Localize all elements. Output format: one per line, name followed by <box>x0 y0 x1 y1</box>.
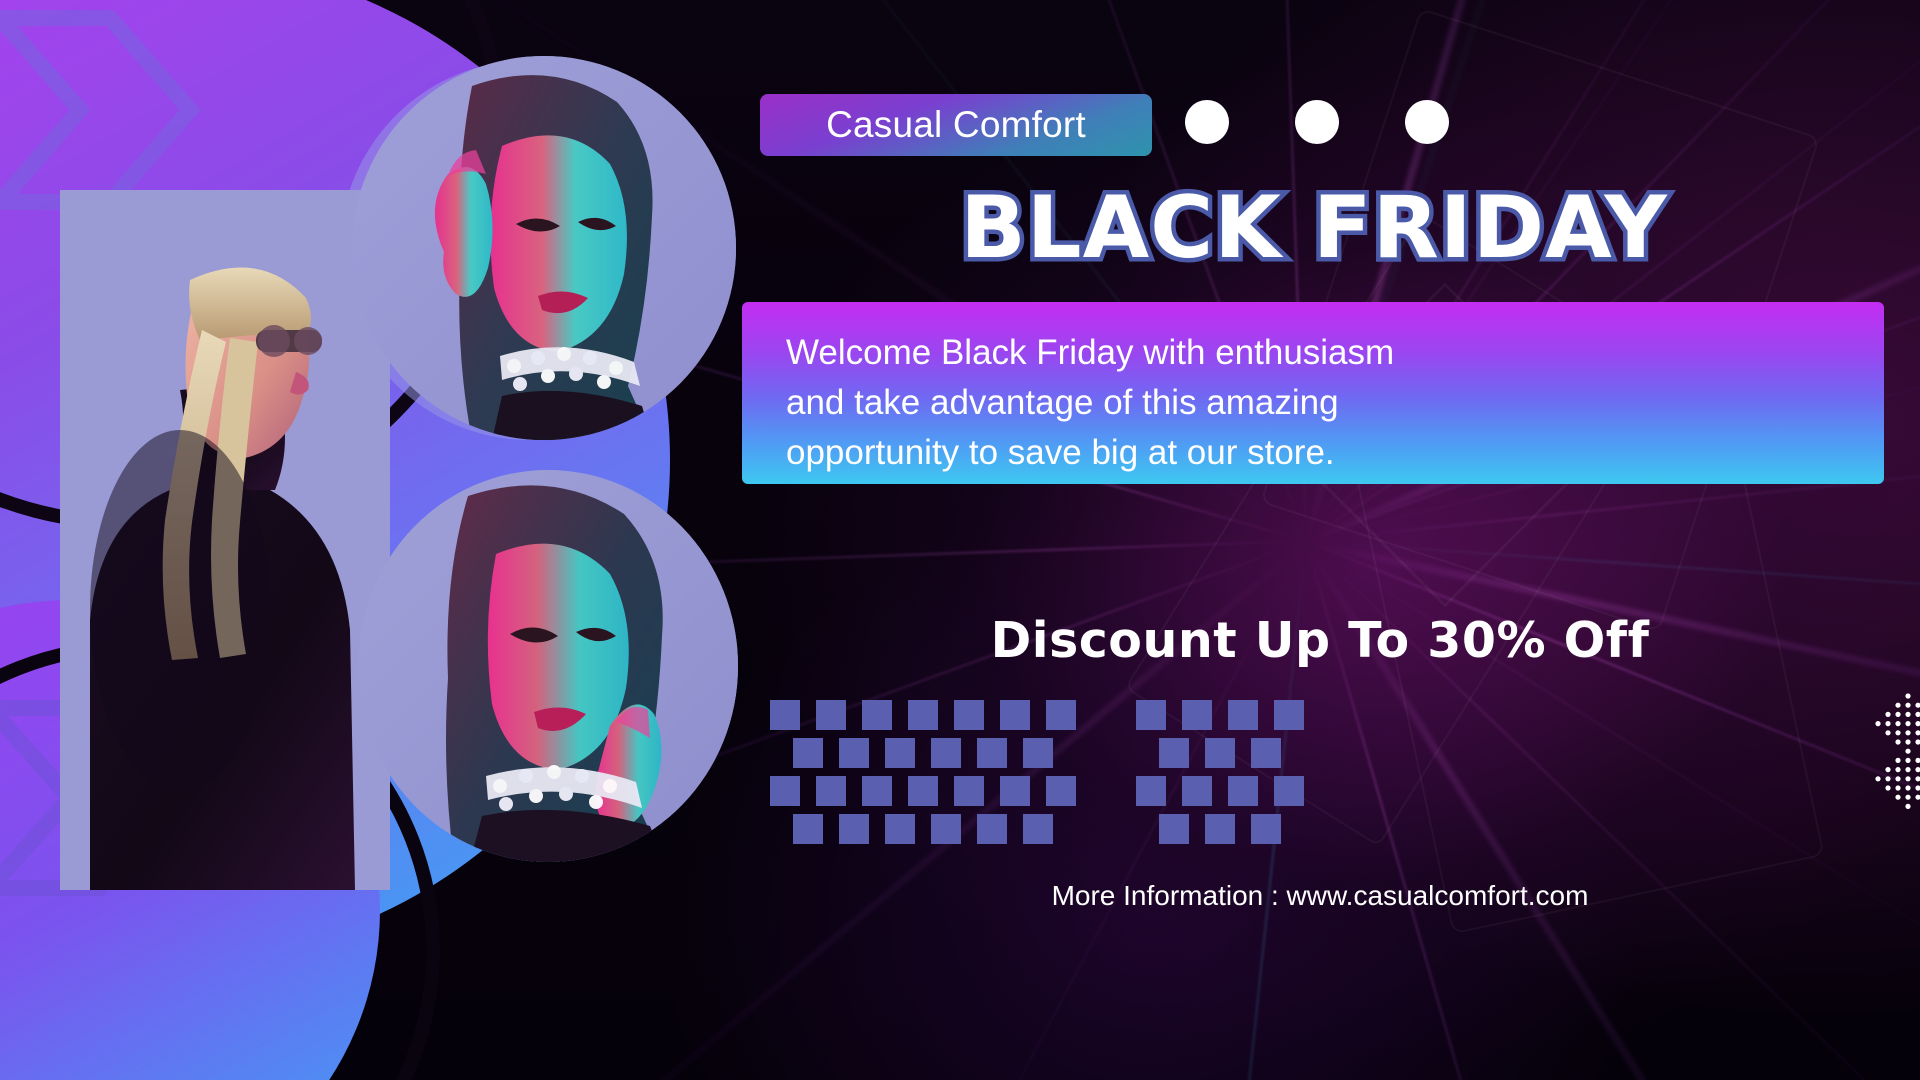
checker-square <box>839 738 869 768</box>
model-bottom-illustration <box>358 470 738 862</box>
checker-square <box>908 776 938 806</box>
checker-block-left <box>770 700 1092 852</box>
checker-block-right <box>1136 700 1320 852</box>
checker-square <box>1228 700 1258 730</box>
checker-square <box>1023 738 1053 768</box>
checker-square <box>1182 776 1212 806</box>
diamond-dots-icon <box>1858 690 1920 815</box>
model-left-illustration <box>60 190 390 890</box>
checker-square <box>1136 700 1166 730</box>
dot-2-icon <box>1295 100 1339 144</box>
promo-description-box: Welcome Black Friday with enthusiasm and… <box>742 302 1884 484</box>
checker-square <box>885 814 915 844</box>
checker-square <box>931 738 961 768</box>
checker-square <box>862 700 892 730</box>
content-column: Casual Comfort BLACK FRIDAY Welcome Blac… <box>760 0 1920 1080</box>
checker-square <box>977 814 1007 844</box>
checker-square <box>1205 738 1235 768</box>
promo-line: Welcome Black Friday with enthusiasm <box>786 328 1884 378</box>
checker-square <box>931 814 961 844</box>
checker-square <box>908 700 938 730</box>
checker-square <box>1251 814 1281 844</box>
checker-square <box>816 776 846 806</box>
checker-square <box>1046 776 1076 806</box>
checker-square <box>1205 814 1235 844</box>
discount-headline: Discount Up To 30% Off <box>760 612 1880 669</box>
dot-1-icon <box>1185 100 1229 144</box>
promo-line: and take advantage of this amazing <box>786 378 1884 428</box>
model-top-illustration <box>352 56 736 440</box>
checker-square <box>1228 776 1258 806</box>
model-photo-left <box>60 190 390 890</box>
checker-square <box>1023 814 1053 844</box>
checker-square <box>954 700 984 730</box>
checker-square <box>770 700 800 730</box>
diamond-dot-motif <box>1858 690 1920 815</box>
checker-square <box>770 776 800 806</box>
checker-square <box>1274 776 1304 806</box>
dot-decoration-group <box>1185 100 1449 144</box>
checker-square <box>1182 700 1212 730</box>
checker-square <box>1274 700 1304 730</box>
chevron-icon-top <box>0 10 220 220</box>
checker-square <box>1159 738 1189 768</box>
checker-square <box>1136 776 1166 806</box>
checker-square <box>862 776 892 806</box>
checker-square <box>1251 738 1281 768</box>
checker-square <box>1159 814 1189 844</box>
promo-line: opportunity to save big at our store. <box>786 428 1884 478</box>
brand-badge-label: Casual Comfort <box>826 104 1086 146</box>
checker-square <box>816 700 846 730</box>
footer-info: More Information : www.casualcomfort.com <box>760 880 1880 912</box>
checker-square <box>793 738 823 768</box>
model-photo-bottom <box>358 470 738 862</box>
checker-square <box>793 814 823 844</box>
brand-badge: Casual Comfort <box>760 94 1152 156</box>
checker-square <box>954 776 984 806</box>
checker-square <box>839 814 869 844</box>
model-photo-top <box>352 56 736 440</box>
checker-square <box>977 738 1007 768</box>
checker-square <box>1000 776 1030 806</box>
checker-square <box>885 738 915 768</box>
page-title: BLACK FRIDAY <box>754 185 1874 271</box>
checkerboard-decoration <box>770 700 1320 852</box>
checker-square <box>1046 700 1076 730</box>
black-friday-banner: Casual Comfort BLACK FRIDAY Welcome Blac… <box>0 0 1920 1080</box>
dot-3-icon <box>1405 100 1449 144</box>
checker-square <box>1000 700 1030 730</box>
